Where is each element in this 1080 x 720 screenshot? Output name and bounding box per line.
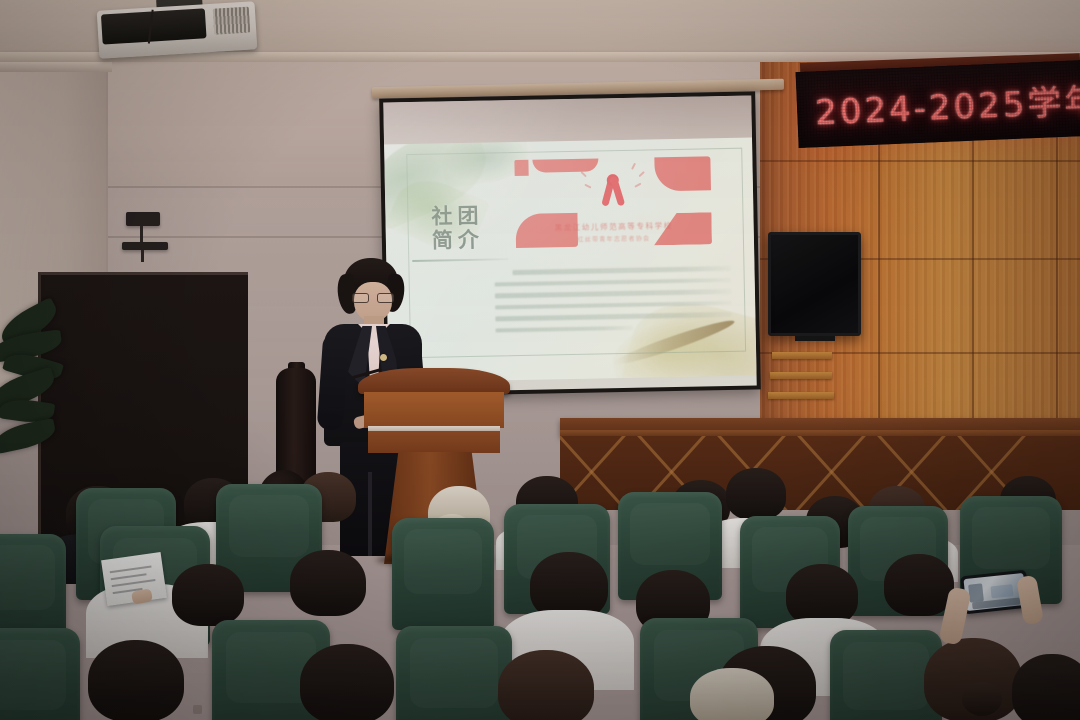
slide-title-line-2: 简介 — [416, 228, 500, 253]
speaker-arm — [141, 250, 144, 262]
display-glass — [771, 235, 858, 333]
attendee-head — [290, 550, 366, 616]
auditorium-seat — [392, 518, 494, 630]
presenter-badge — [380, 354, 387, 361]
lectern-face — [364, 392, 504, 428]
screen-surface: 社团 简介 — [383, 95, 756, 392]
pilaster-cap — [0, 62, 112, 72]
auditorium-seat — [0, 628, 80, 720]
slide-body-text — [494, 266, 731, 340]
attendee-head — [884, 554, 954, 616]
glasses-icon — [352, 293, 394, 303]
projector-lens-plate — [101, 8, 207, 44]
attendee-head — [300, 644, 394, 720]
lectern-body — [368, 431, 500, 453]
attendee-hair-bun — [962, 682, 1002, 716]
attendee-head — [726, 468, 786, 520]
attendee-head — [1012, 654, 1080, 720]
attendee-head — [172, 564, 244, 626]
text-line — [496, 325, 633, 332]
attendee-head — [88, 640, 184, 720]
red-ribbon-icon — [602, 172, 625, 208]
text-line — [495, 300, 731, 309]
attendee-head — [690, 668, 774, 720]
text-line — [495, 289, 731, 298]
plant-frond — [0, 418, 58, 454]
speaker-arm — [140, 226, 143, 242]
panel-joint — [760, 160, 1080, 162]
wall-speaker-bracket — [126, 212, 160, 226]
slide-title-line-1: 社团 — [415, 204, 499, 229]
projection-screen: 社团 简介 — [379, 91, 761, 396]
cabinet-shelf — [768, 392, 834, 399]
lectern-top — [358, 368, 510, 394]
led-banner-text: 2024-2025学年 — [796, 73, 1080, 135]
audience-seating — [0, 468, 1080, 720]
wall-mounted-display — [768, 232, 861, 336]
text-line — [495, 312, 731, 321]
projector-body — [97, 1, 258, 59]
organization-logo: 黑龙江幼儿师范高等专科学校 红丝带青年志愿者协会 — [512, 154, 714, 262]
led-scrolling-banner: 2024-2025学年 — [796, 60, 1080, 148]
attendee-head — [786, 564, 858, 626]
display-mount — [795, 336, 835, 341]
attendee-head — [498, 650, 594, 720]
phone-screen — [963, 573, 1026, 611]
cabinet-shelf — [770, 372, 832, 379]
wall-speaker-bracket — [122, 242, 168, 250]
projector-vent-icon — [213, 7, 251, 35]
logo-corner-ornament — [514, 160, 528, 176]
ribbon-loop — [607, 174, 619, 186]
cabinet-shelf — [772, 352, 832, 359]
ceiling-projector — [97, 1, 258, 59]
presentation-slide: 社团 简介 — [384, 137, 757, 382]
auditorium-photo: 社团 简介 — [0, 0, 1080, 720]
logo-corner-ornament — [654, 156, 711, 191]
auditorium-seat — [396, 626, 512, 720]
text-line — [495, 277, 731, 286]
slide-title: 社团 简介 — [415, 204, 500, 253]
